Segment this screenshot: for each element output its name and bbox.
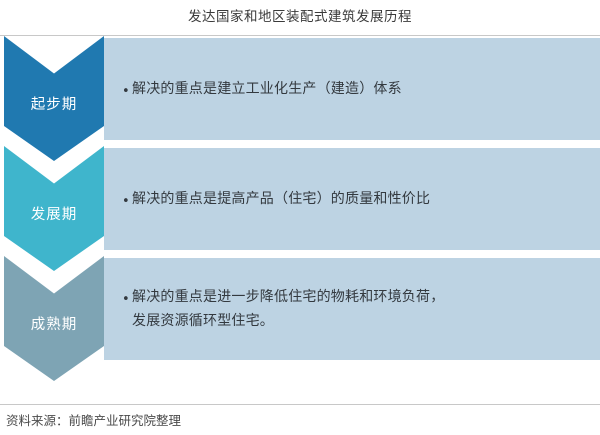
bullet-dot-icon: • bbox=[122, 195, 132, 208]
bullet-line: 发展资源循环型住宅。 bbox=[132, 309, 444, 333]
bullet-line: 解决的重点是进一步降低住宅的物耗和环境负荷， bbox=[132, 285, 444, 309]
chevron-label-stage-1: 起步期 bbox=[4, 93, 104, 114]
bullet-dot-icon: • bbox=[122, 293, 132, 306]
source-note: 资料来源：前瞻产业研究院整理 bbox=[6, 410, 181, 429]
bullet-row-stage-3: • 解决的重点是进一步降低住宅的物耗和环境负荷， 发展资源循环型住宅。 bbox=[104, 285, 460, 333]
chart-title-bar: 发达国家和地区装配式建筑发展历程 bbox=[0, 0, 600, 30]
content-box-stage-1: • 解决的重点是建立工业化生产（建造）体系 bbox=[104, 38, 600, 140]
chevron-stage-1: 起步期 bbox=[4, 36, 104, 161]
bullet-line: 解决的重点是提高产品（住宅）的质量和性价比 bbox=[132, 187, 430, 211]
chevron-label-stage-3: 成熟期 bbox=[4, 313, 104, 334]
bullet-text-stage-3: 解决的重点是进一步降低住宅的物耗和环境负荷， 发展资源循环型住宅。 bbox=[132, 285, 444, 333]
page-title: 发达国家和地区装配式建筑发展历程 bbox=[188, 5, 412, 25]
divider-bottom bbox=[0, 404, 600, 405]
chevron-label-stage-2: 发展期 bbox=[4, 203, 104, 224]
bullet-text-stage-2: 解决的重点是提高产品（住宅）的质量和性价比 bbox=[132, 187, 430, 211]
bullet-row-stage-1: • 解决的重点是建立工业化生产（建造）体系 bbox=[104, 77, 418, 101]
chevron-stage-3: 成熟期 bbox=[4, 256, 104, 381]
content-box-stage-2: • 解决的重点是提高产品（住宅）的质量和性价比 bbox=[104, 148, 600, 250]
bullet-line: 解决的重点是建立工业化生产（建造）体系 bbox=[132, 77, 402, 101]
chevron-stage-2: 发展期 bbox=[4, 146, 104, 271]
process-diagram: 起步期 • 解决的重点是建立工业化生产（建造）体系 发展期 • 解决的重点是提高… bbox=[0, 36, 600, 404]
bullet-text-stage-1: 解决的重点是建立工业化生产（建造）体系 bbox=[132, 77, 402, 101]
content-box-stage-3: • 解决的重点是进一步降低住宅的物耗和环境负荷， 发展资源循环型住宅。 bbox=[104, 258, 600, 360]
bullet-dot-icon: • bbox=[122, 85, 132, 98]
bullet-row-stage-2: • 解决的重点是提高产品（住宅）的质量和性价比 bbox=[104, 187, 446, 211]
